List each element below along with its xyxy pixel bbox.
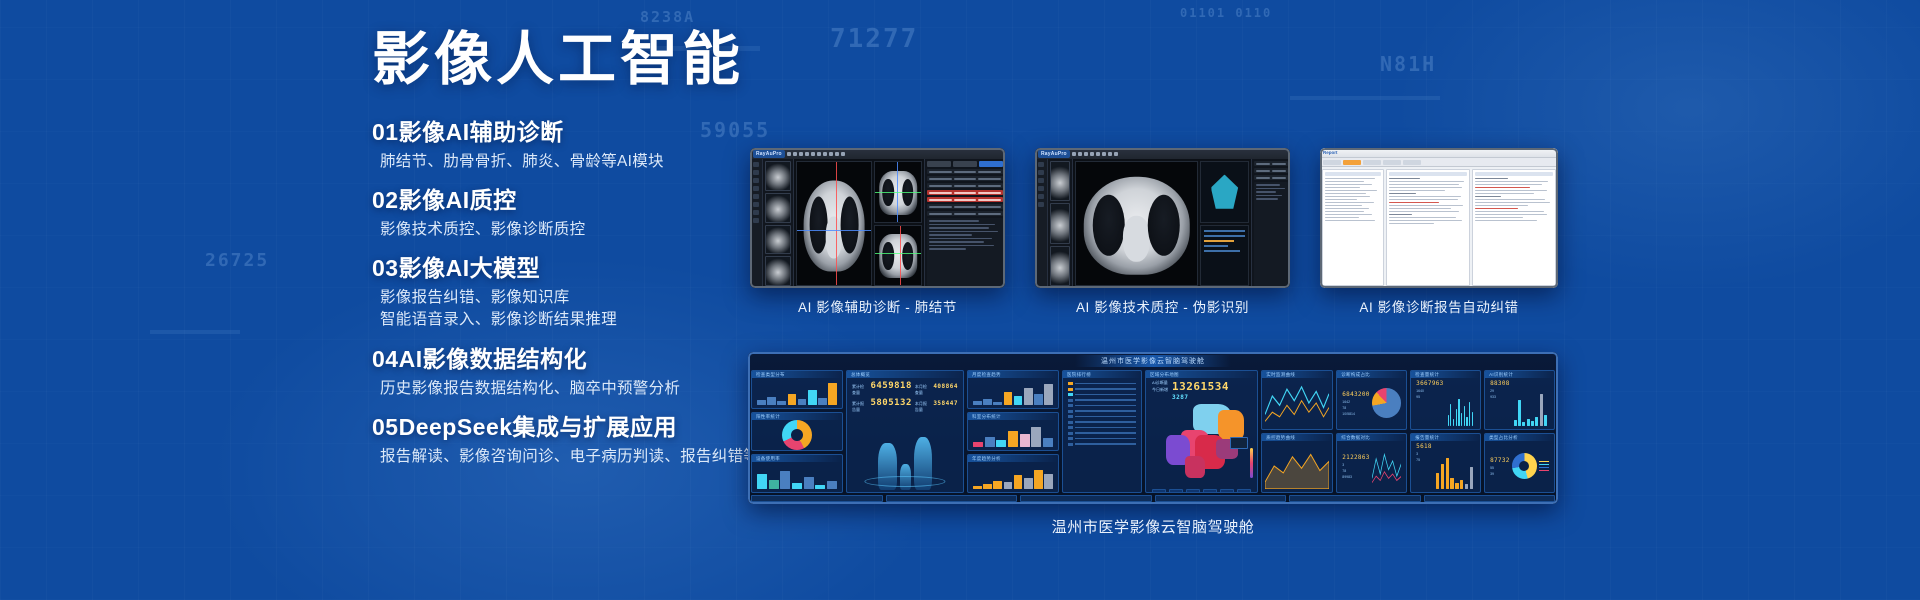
- qc-row[interactable]: [1254, 168, 1288, 173]
- feature-name-01: 影像AI辅助诊断: [399, 119, 564, 145]
- kpi-value: 88308: [1490, 380, 1510, 387]
- screenshot-caption-1: AI 影像辅助诊断 - 肺结节: [750, 296, 1005, 316]
- ct-lung-image: [1083, 177, 1189, 275]
- rail-icon[interactable]: [753, 178, 759, 183]
- viewer-toolbar[interactable]: RayAuPro: [750, 148, 1005, 159]
- app-logo: RayAuPro: [1038, 150, 1070, 158]
- finding-row[interactable]: [927, 204, 1003, 209]
- rail-icon[interactable]: [753, 186, 759, 191]
- map-region[interactable]: [1218, 410, 1244, 440]
- qc-row[interactable]: [1254, 161, 1288, 166]
- tab[interactable]: [1383, 160, 1401, 165]
- stat-label: 本月报告量: [915, 401, 930, 413]
- report-titlebar: Report: [1320, 148, 1558, 158]
- qc-metrics-view[interactable]: [1200, 225, 1249, 287]
- column-header: [1389, 172, 1467, 176]
- screenshot-caption-2: AI 影像技术质控 - 伪影识别: [1035, 296, 1290, 316]
- rail-icon[interactable]: [753, 170, 759, 175]
- report-corrected-column[interactable]: [1472, 169, 1556, 286]
- ct-lung-image: [879, 234, 917, 278]
- toolbar-icon[interactable]: [787, 152, 791, 156]
- pie-chart: [1372, 388, 1402, 418]
- ct-coronal-view[interactable]: [874, 161, 922, 223]
- panel-title: 总体概览: [851, 372, 870, 378]
- qc-panel[interactable]: [1251, 159, 1290, 288]
- dashboard-footer: [751, 496, 1555, 501]
- finding-row[interactable]: [927, 211, 1003, 216]
- stat-value: 408864: [933, 383, 958, 390]
- page-title: 影像人工智能: [372, 28, 892, 92]
- bg-number: N81H: [1380, 52, 1436, 76]
- panel-donut[interactable]: 阳性率统计: [751, 412, 843, 451]
- toolbar-icon[interactable]: [835, 152, 839, 156]
- panel-button[interactable]: [927, 161, 951, 167]
- rail-icon[interactable]: [753, 162, 759, 167]
- rail-icon[interactable]: [753, 202, 759, 207]
- ct-axial-view[interactable]: [1075, 161, 1198, 286]
- line-chart: [1265, 380, 1329, 426]
- panel-line-bottom[interactable]: 质控趋势曲线: [1261, 433, 1333, 493]
- panel-bars-blue[interactable]: AI识别统计 88308 29 933: [1484, 370, 1555, 430]
- panel-title: 年度趋势分析: [972, 456, 1001, 462]
- rail-icon[interactable]: [753, 210, 759, 215]
- panel-dept-bars[interactable]: 科室分布统计: [967, 412, 1059, 451]
- panel-title: 医院排行榜: [1067, 372, 1091, 378]
- feature-number-01: 01: [372, 119, 399, 145]
- map-region[interactable]: [1185, 456, 1205, 478]
- map-total-value: 13261534: [1172, 380, 1229, 393]
- banner-root: 8238A 71277 59055 26725 N81H 01101 0110 …: [0, 0, 1920, 600]
- panel-pie[interactable]: 诊断构成占比 6843200 1642 78 10/5814: [1336, 370, 1407, 430]
- thumbnail[interactable]: [765, 225, 791, 255]
- kpi-value: 5618: [1416, 443, 1432, 450]
- map-today-label: 今日新增: [1152, 387, 1168, 393]
- panel-trend-bars[interactable]: 年度趋势分析: [967, 454, 1059, 493]
- ct-sagittal-view[interactable]: [874, 225, 922, 287]
- line-chart: [1265, 443, 1329, 489]
- dashboard-header: 温州市医学影像云智脑驾驶舱: [751, 355, 1555, 367]
- report-tabbar[interactable]: [1320, 158, 1558, 167]
- panel-ranking-list[interactable]: 医院排行榜: [1062, 370, 1142, 493]
- phantom-shape: [1211, 175, 1238, 210]
- toolbar-icon[interactable]: [823, 152, 827, 156]
- thumbnail[interactable]: [1050, 161, 1070, 201]
- kpi-value: 3667963: [1416, 380, 1443, 387]
- app-logo: RayAuPro: [753, 150, 785, 158]
- line-chart: [1372, 448, 1402, 485]
- series-thumbnails[interactable]: [1048, 159, 1073, 288]
- rail-icon[interactable]: [1038, 194, 1044, 199]
- panel-monthly-bars[interactable]: 月度检查趋势: [967, 370, 1059, 409]
- thumbnail[interactable]: [765, 161, 791, 191]
- report-text: [927, 218, 1003, 286]
- rail-icon[interactable]: [1038, 162, 1044, 167]
- map-legend-gradient: [1250, 448, 1253, 478]
- column-header: [1325, 172, 1381, 176]
- rail-icon[interactable]: [1038, 178, 1044, 183]
- worklist-column[interactable]: [1322, 169, 1384, 286]
- qc-phantom-view[interactable]: [1200, 161, 1249, 223]
- panel-title: 质控趋势曲线: [1266, 435, 1295, 441]
- rail-icon[interactable]: [1038, 186, 1044, 191]
- panel-title: 诊断构成占比: [1341, 372, 1370, 378]
- kpi-value: 87732: [1490, 457, 1510, 464]
- finding-row[interactable]: [927, 176, 1003, 181]
- panel-title: 阳性率统计: [756, 414, 780, 420]
- toolbar-icon[interactable]: [829, 152, 833, 156]
- toolbar-icon[interactable]: [1084, 152, 1088, 156]
- report-original-column[interactable]: [1386, 169, 1470, 286]
- column-header: [1475, 172, 1553, 176]
- tab[interactable]: [1323, 160, 1341, 165]
- qc-text: [1254, 182, 1288, 286]
- app-logo: Report: [1323, 150, 1338, 155]
- feature-name-03: 影像AI大模型: [399, 255, 541, 281]
- panel-title: 月度检查趋势: [972, 372, 1001, 378]
- toolbar-icon[interactable]: [1078, 152, 1082, 156]
- panel-title: 设备使用率: [756, 456, 780, 462]
- bg-bar: [1290, 96, 1440, 100]
- toolbar-icon[interactable]: [1114, 152, 1118, 156]
- bg-number: 26725: [205, 250, 269, 271]
- feature-number-05: 05: [372, 414, 399, 440]
- thumbnail[interactable]: [1050, 203, 1070, 243]
- screenshot-ct-nodule[interactable]: RayAuPro: [750, 148, 1005, 288]
- toolbar-icon[interactable]: [799, 152, 803, 156]
- stat-value: 5805132: [870, 398, 911, 408]
- stat-value: 6459818: [870, 381, 911, 391]
- crosshair-vertical: [900, 226, 901, 286]
- feature-name-05: DeepSeek集成与扩展应用: [399, 414, 677, 440]
- ct-axial-view[interactable]: [796, 161, 872, 286]
- toolbar-icon[interactable]: [1072, 152, 1076, 156]
- panel-line-top[interactable]: 实时监测曲线: [1261, 370, 1333, 430]
- rail-icon[interactable]: [1038, 202, 1044, 207]
- toolbar-icon[interactable]: [1090, 152, 1094, 156]
- toolbar-icon[interactable]: [1102, 152, 1106, 156]
- toolbar-icon[interactable]: [817, 152, 821, 156]
- toolbar-icon[interactable]: [841, 152, 845, 156]
- panel-bar-small[interactable]: 检查类型分布: [751, 370, 843, 409]
- hologram-figures: [850, 414, 960, 490]
- donut-chart: [782, 420, 812, 450]
- panel-overview[interactable]: 总体概览 累计检查量 6459818 本月检查量 408864 累计报告量 58…: [846, 370, 964, 493]
- thumbnail[interactable]: [1050, 246, 1070, 286]
- panel-buttons[interactable]: [927, 161, 1003, 167]
- finding-row-selected[interactable]: [927, 190, 1003, 195]
- panel-bar-small-2[interactable]: 设备使用率: [751, 454, 843, 493]
- rail-icon[interactable]: [753, 218, 759, 223]
- kpi-value: 6843200: [1342, 391, 1369, 398]
- kpi-value: 2122863: [1342, 454, 1369, 461]
- panel-mixed-bars[interactable]: 综合数据对比 2122863 3 78 89983: [1336, 433, 1407, 493]
- panel-title: 科室分布统计: [972, 414, 1001, 420]
- dashboard-caption: 温州市医学影像云智脑驾驶舱: [748, 516, 1558, 537]
- finding-row[interactable]: [927, 183, 1003, 188]
- crosshair-horizontal: [875, 253, 921, 254]
- screenshot-ct-artifact[interactable]: RayAuPro: [1035, 148, 1290, 288]
- findings-panel[interactable]: [924, 159, 1005, 288]
- panel-title: 报告量统计: [1415, 435, 1439, 441]
- qc-row[interactable]: [1254, 175, 1288, 180]
- bg-number: 01101 0110: [1180, 6, 1272, 20]
- stat-label: 累计检查量: [852, 384, 867, 396]
- thumbnail[interactable]: [765, 193, 791, 223]
- stat-label: 累计报告量: [852, 401, 867, 413]
- crosshair-horizontal: [797, 230, 871, 231]
- donut-chart: [1512, 453, 1537, 479]
- viewer-toolbar[interactable]: RayAuPro: [1035, 148, 1290, 159]
- map-tooltip: [1230, 437, 1248, 449]
- panel-button[interactable]: [953, 161, 977, 167]
- finding-row[interactable]: [927, 169, 1003, 174]
- panel-title: 综合数据对比: [1341, 435, 1370, 441]
- stat-value: 358447: [933, 400, 958, 407]
- bg-number: 8238A: [640, 8, 695, 26]
- viewer-tool-rail[interactable]: [750, 159, 763, 288]
- panel-title: 检查类型分布: [756, 372, 785, 378]
- toolbar-icon[interactable]: [805, 152, 809, 156]
- panel-bars-orange[interactable]: 报告量统计 5618 3 75: [1410, 433, 1481, 493]
- map-total-label: AI诊断量: [1152, 380, 1168, 386]
- map-today-value: 3287: [1172, 394, 1229, 401]
- tab-active[interactable]: [1343, 160, 1361, 165]
- region-map[interactable]: [1149, 401, 1254, 487]
- feature-title-01: 01影像AI辅助诊断: [372, 118, 892, 147]
- toolbar-icon[interactable]: [1108, 152, 1112, 156]
- tab[interactable]: [1403, 160, 1421, 165]
- panel-title: 检查量统计: [1415, 372, 1439, 378]
- crosshair-vertical: [836, 162, 837, 285]
- panel-bars-cyan[interactable]: 检查量统计 3667963 1640 95: [1410, 370, 1481, 430]
- panel-button-primary[interactable]: [979, 161, 1003, 167]
- toolbar-icon[interactable]: [1096, 152, 1100, 156]
- panel-donut-right[interactable]: 类型占比分析 87732 55 39: [1484, 433, 1555, 493]
- panel-title: 区域分布地图: [1150, 372, 1179, 378]
- rail-icon[interactable]: [753, 194, 759, 199]
- thumbnail[interactable]: [765, 256, 791, 286]
- feature-name-02: 影像AI质控: [399, 187, 517, 213]
- panel-map[interactable]: 区域分布地图 AI诊断量 今日新增 13261534 3287: [1145, 370, 1258, 493]
- series-thumbnails[interactable]: [763, 159, 794, 288]
- bg-bar: [150, 330, 240, 334]
- crosshair-horizontal: [875, 192, 921, 193]
- stat-label: 本月检查量: [915, 384, 930, 396]
- tab[interactable]: [1363, 160, 1381, 165]
- toolbar-icon[interactable]: [811, 152, 815, 156]
- map-kpi-row: [1149, 487, 1254, 493]
- dashboard-header-title: 温州市医学影像云智脑驾驶舱: [1075, 355, 1231, 367]
- feature-number-03: 03: [372, 255, 399, 281]
- feature-number-04: 04: [372, 346, 399, 372]
- panel-title: 实时监测曲线: [1266, 372, 1295, 378]
- screenshot-caption-3: AI 影像诊断报告自动纠错: [1320, 296, 1558, 316]
- screenshot-dashboard[interactable]: 温州市医学影像云智脑驾驶舱 检查类型分布 阳性率: [748, 352, 1558, 504]
- viewer-tool-rail[interactable]: [1035, 159, 1048, 288]
- panel-title: AI识别统计: [1489, 372, 1513, 378]
- feature-number-02: 02: [372, 187, 399, 213]
- rail-icon[interactable]: [1038, 170, 1044, 175]
- ct-lung-image: [804, 180, 865, 271]
- panel-title: 类型占比分析: [1489, 435, 1518, 441]
- toolbar-icon[interactable]: [793, 152, 797, 156]
- feature-name-04: AI影像数据结构化: [399, 346, 588, 372]
- screenshot-report[interactable]: Report: [1320, 148, 1558, 288]
- finding-row-selected[interactable]: [927, 197, 1003, 202]
